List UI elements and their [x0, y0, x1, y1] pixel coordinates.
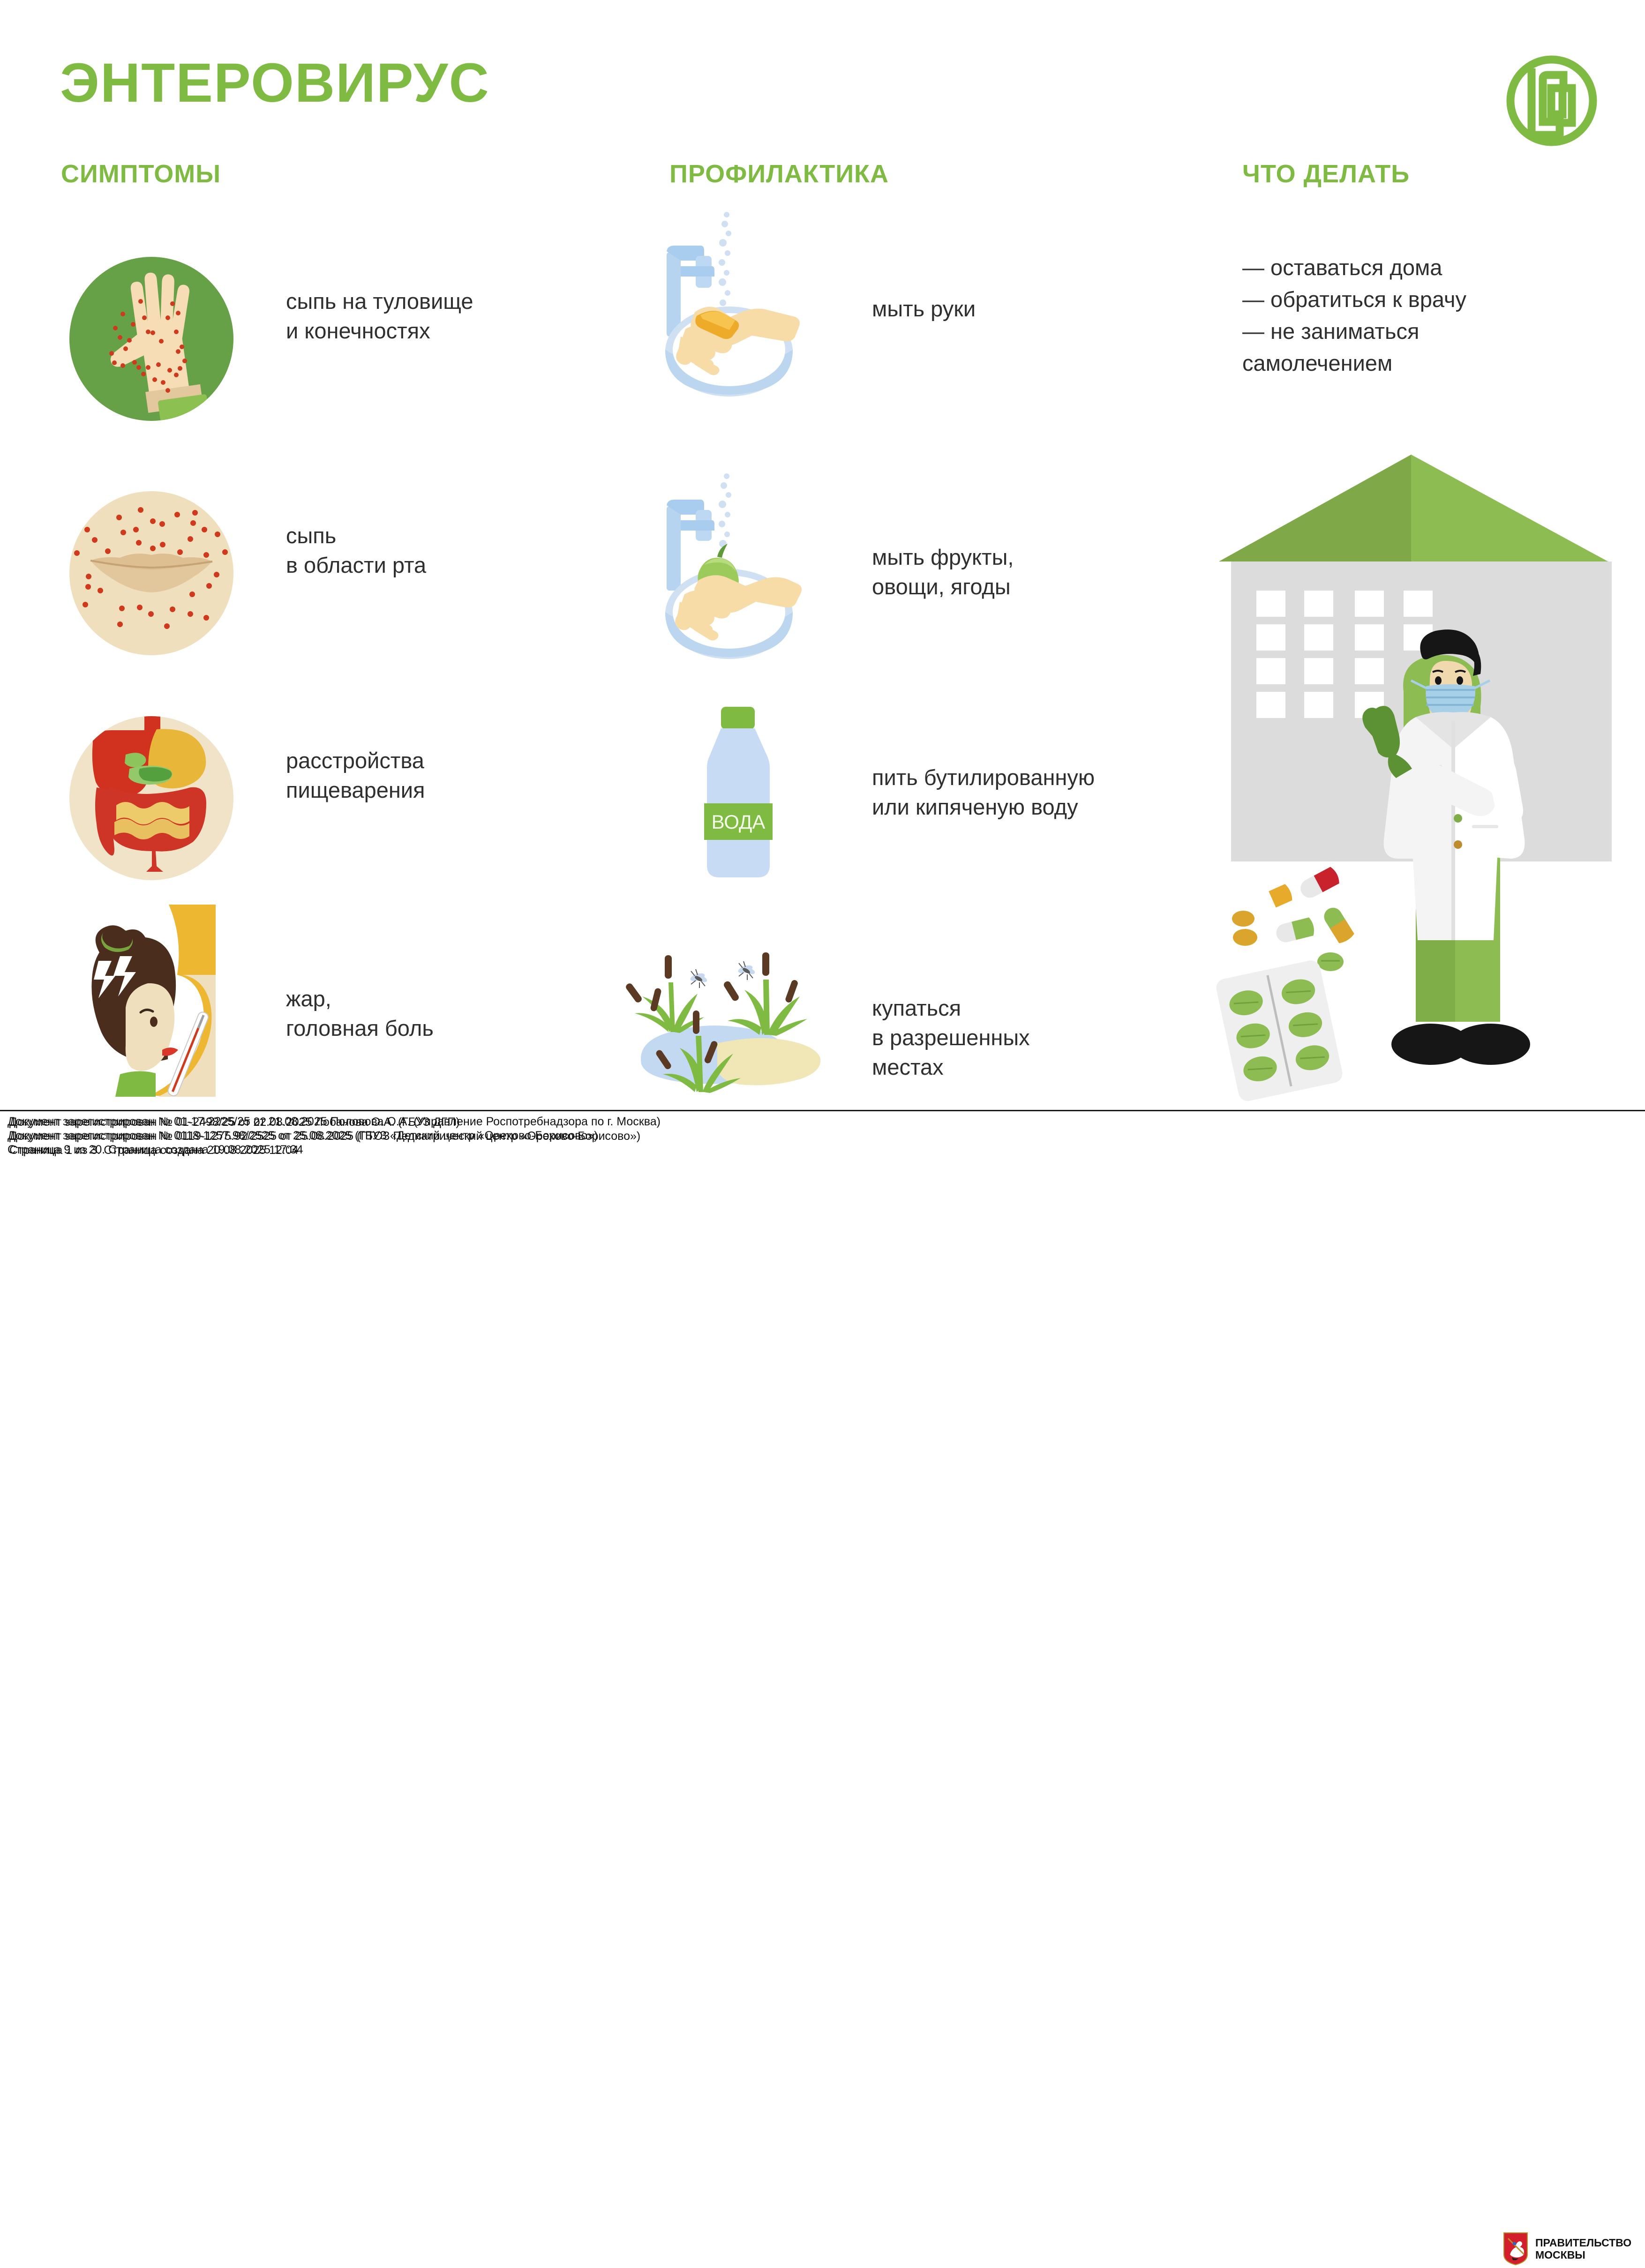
- mouth-with-rash-icon: [69, 491, 233, 655]
- prevention-label-wash-hands: мыть руки: [872, 294, 1200, 324]
- prevention-label-wash-produce: мыть фрукты, овощи, ягоды: [872, 543, 1209, 602]
- moscow-government-logo: ПРАВИТЕЛЬСТВО МОСКВЫ: [1502, 2230, 1641, 2268]
- stamp2-line1: Документ зарегистрирован № 01-2498/25 от…: [9, 1115, 460, 1129]
- stamp2-line3: Страница 1 из 3. Страница создана 20.08.…: [9, 1144, 299, 1157]
- digestive-system-icon: [69, 716, 233, 880]
- footer-stamp-bar: Документ зарегистрирован № 01-17-2225/25…: [0, 1110, 1645, 1164]
- heading-symptoms: СИМПТОМЫ: [61, 159, 221, 188]
- heading-prevention: ПРОФИЛАКТИКА: [669, 159, 889, 188]
- prevention-label-swim-allowed: купаться в разрешенных местах: [872, 994, 1200, 1082]
- washing-hands-icon: [652, 211, 806, 408]
- symptom-label-rash-mouth: сыпь в области рта: [286, 521, 586, 580]
- doctor-in-front-of-house-icon: [1209, 450, 1631, 1101]
- page-title: ЭНТЕРОВИРУС: [60, 55, 490, 111]
- hand-with-rash-icon: [69, 257, 233, 421]
- what-to-do-item-2: — обратиться к врачу: [1242, 285, 1599, 314]
- washing-fruit-icon: [652, 473, 806, 670]
- infographic-page: ЭНТЕРОВИРУС СИМПТОМЫ ПРОФИЛАКТИКА ЧТО ДЕ…: [0, 0, 1645, 1162]
- bottle-label: ВОДА: [712, 811, 766, 833]
- moscow-healthcare-logo-icon: [1502, 52, 1601, 150]
- prevention-label-drink-water: пить бутилированную или кипяченую воду: [872, 763, 1228, 822]
- symptom-label-digestive: расстройства пищеварения: [286, 746, 586, 805]
- gov-label-line2: МОСКВЫ: [1535, 2249, 1631, 2261]
- stamp2-line2: Документ зарегистрирован № 0119-1275.92/…: [9, 1130, 640, 1143]
- water-bottle-icon: ВОДА: [684, 703, 792, 886]
- woman-with-fever-icon: [28, 905, 225, 1101]
- gov-label-line1: ПРАВИТЕЛЬСТВО: [1535, 2237, 1631, 2249]
- what-to-do-item-4: самолечением: [1242, 349, 1599, 378]
- moscow-coat-of-arms-icon: [1502, 2232, 1529, 2266]
- symptom-label-rash-body: сыпь на туловище и конечностях: [286, 287, 586, 346]
- what-to-do-item-3: — не заниматься: [1242, 317, 1599, 346]
- heading-what-to-do: ЧТО ДЕЛАТЬ: [1242, 159, 1410, 188]
- symptom-label-fever: жар, головная боль: [286, 984, 586, 1043]
- pond-with-reeds-icon: [623, 951, 830, 1097]
- what-to-do-item-1: — оставаться дома: [1242, 253, 1599, 283]
